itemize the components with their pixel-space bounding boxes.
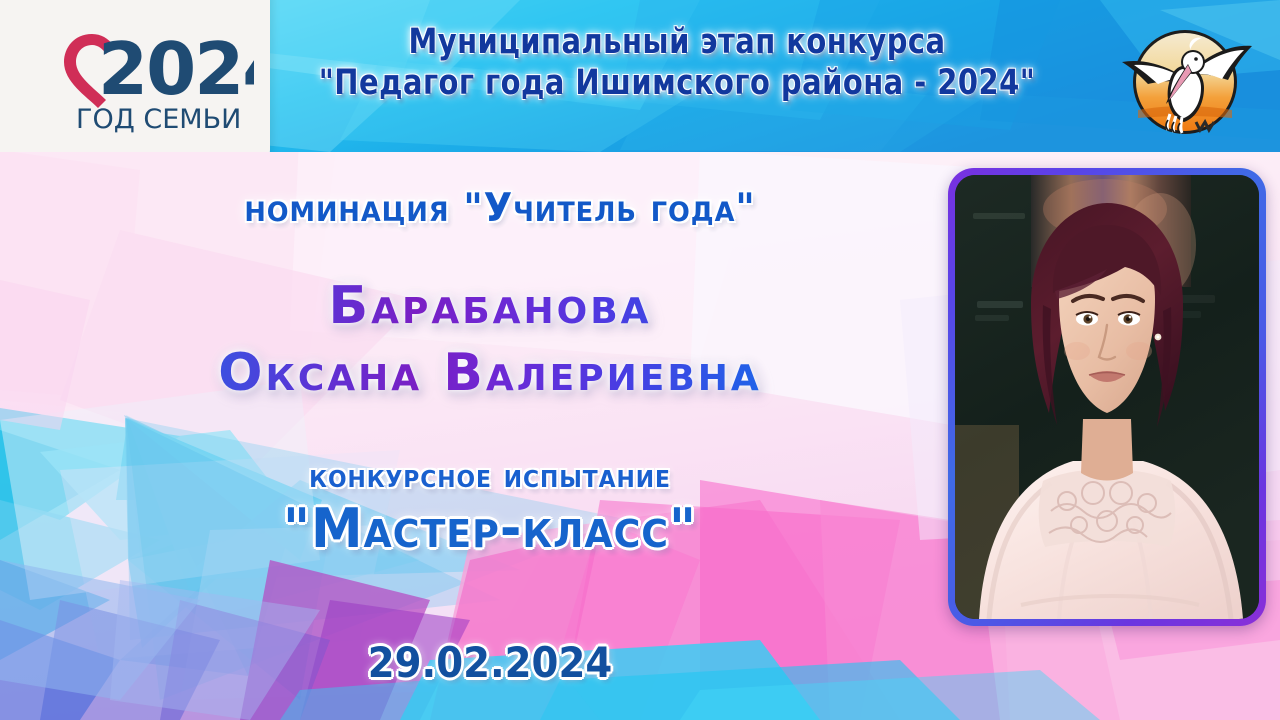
header-title-line-2: "Педагог года Ишимского района - 2024" [295,63,1059,104]
logo-caption: ГОД СЕМЬИ [76,104,241,135]
portrait-photo [955,175,1259,619]
participant-name: Барабанова Оксана Валериевна [40,276,940,405]
portrait-frame [948,168,1266,626]
header-title-line-1: Муниципальный этап конкурса [295,22,1059,63]
participant-surname: Барабанова [40,276,940,337]
year-of-family-logo: 2024 ГОД СЕМЬИ [44,16,254,136]
year-of-family-logo-graphic: 2024 ГОД СЕМЬИ [44,16,254,136]
contest-task-label: конкурсное испытание [63,456,918,495]
contest-task: конкурсное испытание "Мастер-класс" [40,456,940,560]
presentation-slide: 2024 ГОД СЕМЬИ Муниципальный этап конкур… [0,0,1280,720]
logo-year: 2024 [98,27,254,111]
portrait-illustration [955,175,1259,619]
pelican-emblem [1110,18,1260,146]
pelican-emblem-graphic [1110,18,1260,146]
nomination-line: номинация "Учитель года" [82,186,918,231]
contest-task-name: "Мастер-класс" [58,497,922,560]
event-date: 29.02.2024 [76,638,904,687]
participant-given-name: Оксана Валериевна [40,343,940,404]
slide-header-title: Муниципальный этап конкурса "Педагог год… [262,22,1092,105]
